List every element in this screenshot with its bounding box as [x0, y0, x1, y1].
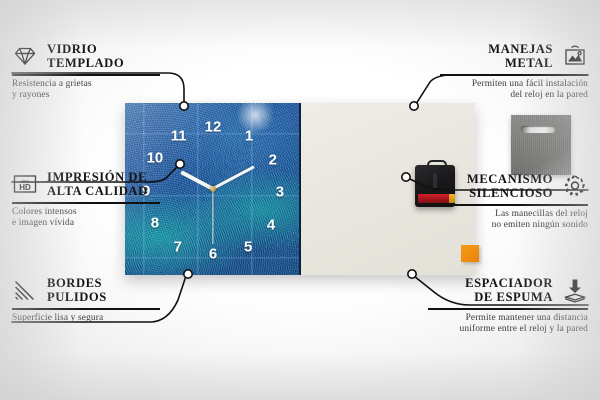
callout-title-line2: ALTA CALIDAD — [47, 184, 148, 198]
clock-numeral-5: 5 — [244, 240, 252, 255]
callout-title-line2: TEMPLADO — [47, 56, 124, 70]
callout-title-line2: SILENCIOSO — [467, 186, 553, 200]
clock-numeral-10: 10 — [147, 151, 164, 166]
ultra-hd-icon: ultra HD — [12, 171, 38, 197]
callout-desc-line2: no emiten ningún sonido — [440, 220, 588, 231]
callout-title-line2: DE ESPUMA — [465, 290, 553, 304]
callout-rule — [12, 74, 160, 76]
hanger-slot — [521, 126, 555, 133]
callout-vidrio-templado: VIDRIO TEMPLADO Resistencia a grietas y … — [12, 42, 160, 101]
callout-title-line2: PULIDOS — [47, 290, 107, 304]
callout-title-line1: MANEJAS — [488, 42, 553, 56]
callout-desc-line1: Superficie lisa y segura — [12, 313, 160, 324]
callout-rule — [428, 308, 588, 310]
svg-text:HD: HD — [19, 183, 31, 192]
callout-rule — [12, 308, 160, 310]
callout-impresion-alta-calidad: ultra HD IMPRESIÓN DE ALTA CALIDAD Color… — [12, 170, 160, 229]
mechanism-shaft — [433, 173, 437, 189]
callout-desc-line2: uniforme entre el reloj y la pared — [428, 324, 588, 335]
callout-rule — [440, 74, 588, 76]
product-photo: 12 1 2 3 4 5 6 7 8 9 10 11 — [125, 103, 475, 275]
infographic-canvas: 12 1 2 3 4 5 6 7 8 9 10 11 — [0, 0, 600, 400]
mechanism-hook — [427, 160, 447, 170]
callout-title-line2: METAL — [488, 56, 553, 70]
callout-manejas-metal: MANEJAS METAL Permiten una fácil instala… — [440, 42, 588, 101]
callout-bordes-pulidos: BORDES PULIDOS Superficie lisa y segura — [12, 276, 160, 324]
callout-desc-line2: e imagen vívida — [12, 218, 160, 229]
callout-desc-line1: Resistencia a grietas — [12, 79, 160, 90]
gear-icon — [562, 173, 588, 199]
callout-desc-line1: Colores intensos — [12, 207, 160, 218]
callout-rule — [440, 204, 588, 206]
callout-title-line1: MECANISMO — [467, 172, 553, 186]
foam-spacer-icon — [562, 277, 588, 303]
callout-espaciador-espuma: ESPACIADOR DE ESPUMA Permite mantener un… — [428, 276, 588, 335]
clock-numeral-7: 7 — [174, 240, 182, 255]
callout-rule — [12, 202, 160, 204]
callout-title-line1: BORDES — [47, 276, 107, 290]
callout-desc-line1: Las manecillas del reloj — [440, 209, 588, 220]
metal-hanger-plate — [511, 115, 571, 175]
diamond-icon — [12, 43, 38, 69]
callout-title-line1: IMPRESIÓN DE — [47, 170, 148, 184]
callout-desc-line2: del reloj en la pared — [440, 90, 588, 101]
callout-title-line1: ESPACIADOR — [465, 276, 553, 290]
callout-mecanismo-silencioso: MECANISMO SILENCIOSO Las manecillas del … — [440, 172, 588, 231]
callout-desc-line1: Permite mantener una distancia — [428, 313, 588, 324]
clock-numeral-11: 11 — [171, 128, 187, 143]
callout-desc-line1: Permiten una fácil instalación — [440, 79, 588, 90]
clock-numeral-1: 1 — [245, 128, 253, 143]
callout-title-line1: VIDRIO — [47, 42, 124, 56]
clock-numeral-2: 2 — [269, 152, 277, 167]
clock-numeral-3: 3 — [276, 185, 284, 200]
clock-numeral-12: 12 — [205, 120, 222, 135]
clock-hand-cap — [210, 186, 216, 192]
clock-numeral-6: 6 — [209, 247, 217, 262]
foam-spacer-pad — [461, 245, 479, 262]
callout-desc-line2: y rayones — [12, 90, 160, 101]
clock-numeral-4: 4 — [267, 218, 275, 233]
picture-frame-hanger-icon — [562, 43, 588, 69]
beveled-edges-icon — [12, 277, 38, 303]
